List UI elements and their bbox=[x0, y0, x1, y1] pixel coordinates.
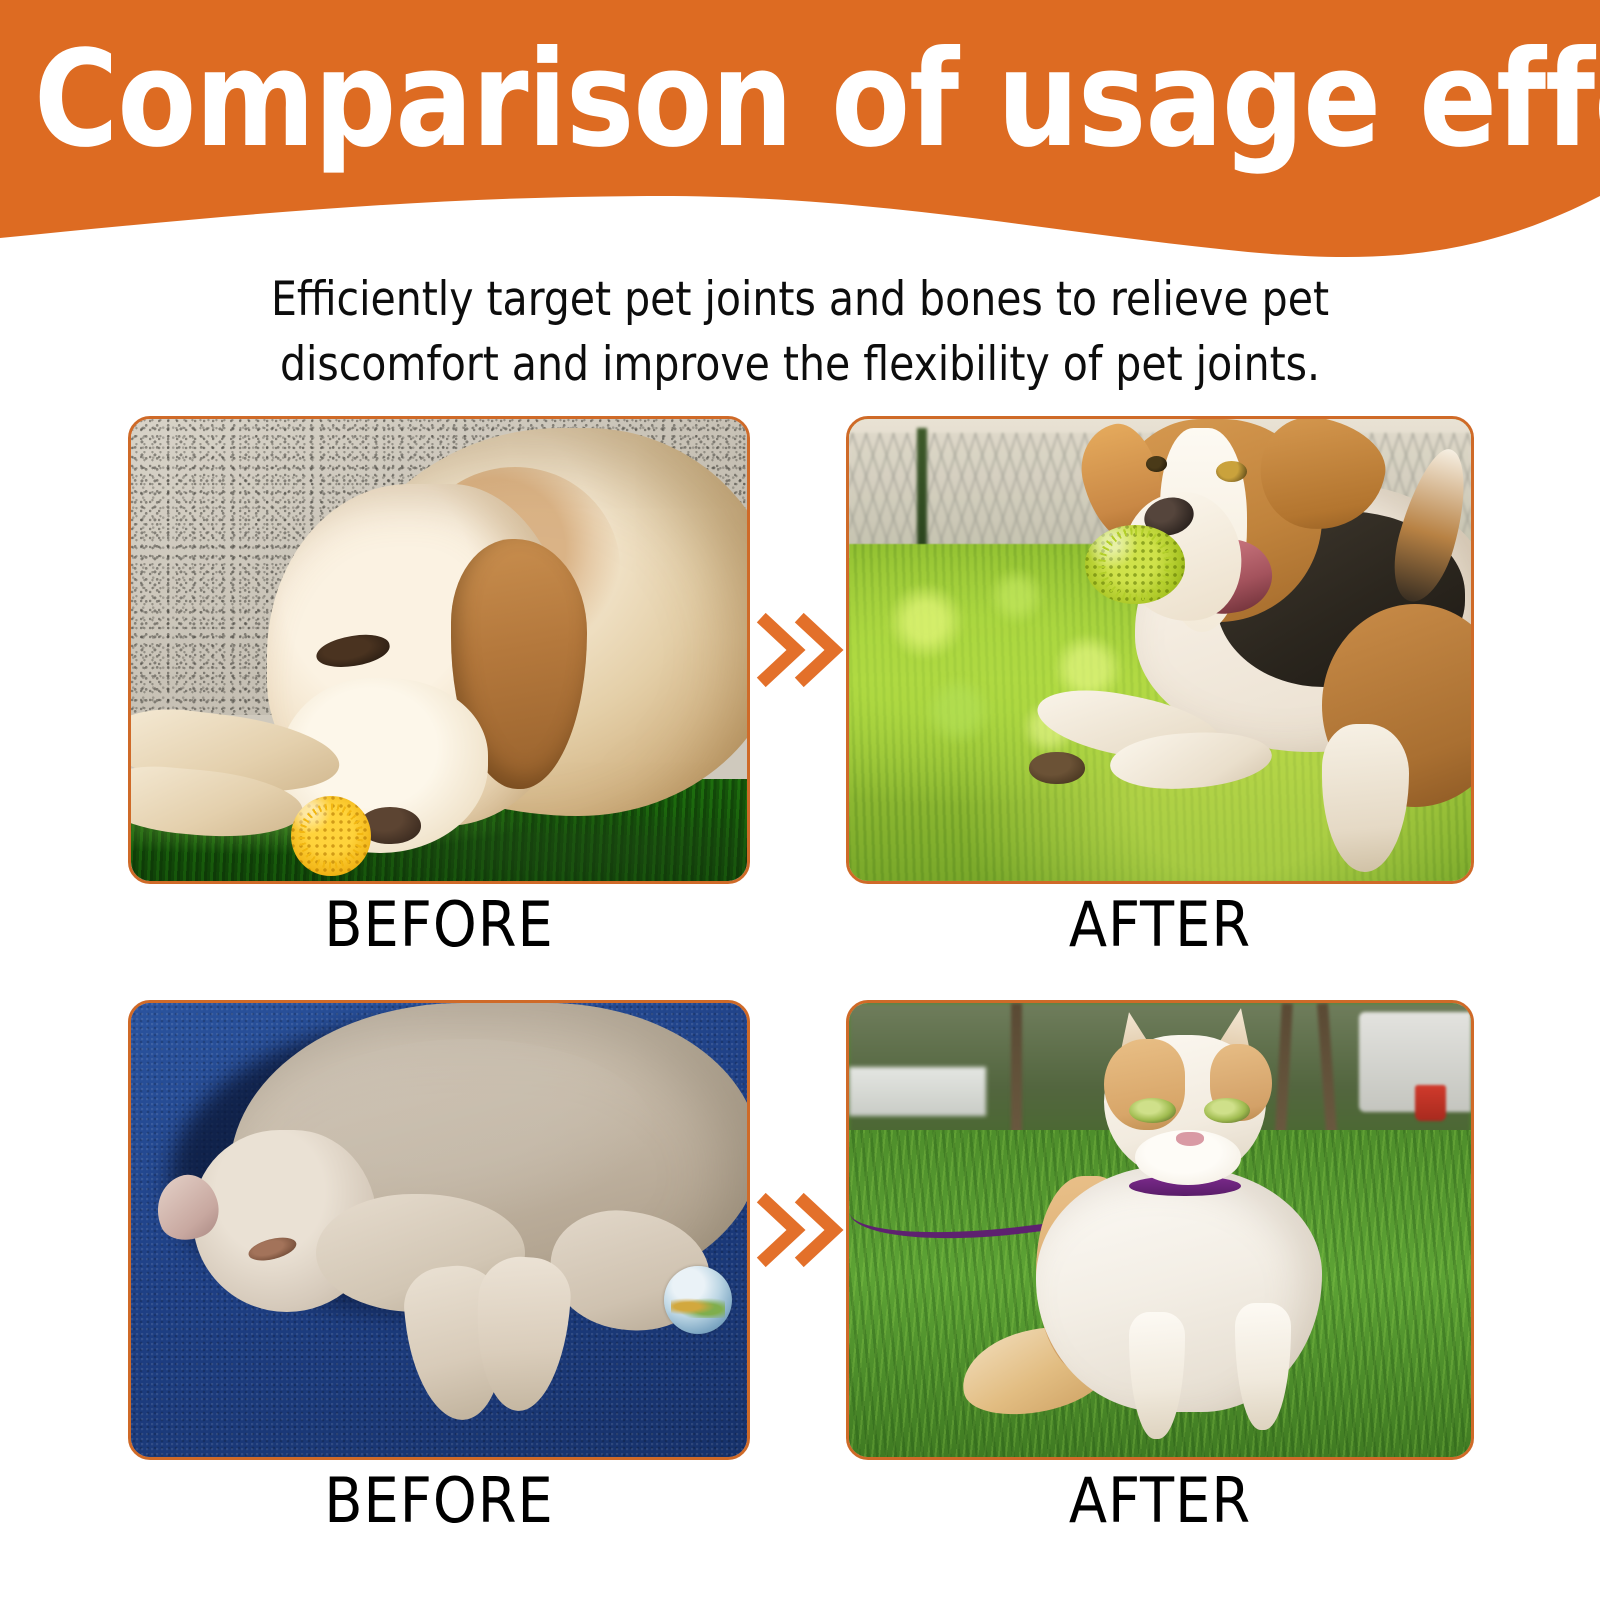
panel-before-dog[interactable] bbox=[128, 416, 750, 884]
beagle-paw bbox=[1029, 752, 1085, 784]
panel-after-dog[interactable] bbox=[846, 416, 1474, 884]
yellow-spiky-ball-toy bbox=[291, 796, 371, 877]
green-spiky-ball-toy bbox=[1085, 525, 1185, 604]
tree-trunk-1 bbox=[1011, 1003, 1022, 1148]
arrow-separator-row-2 bbox=[752, 1182, 848, 1278]
double-chevron-right-icon bbox=[752, 1182, 848, 1278]
label-before-dog: BEFORE bbox=[128, 894, 750, 956]
white-fence bbox=[849, 1067, 986, 1117]
photo-dog-after bbox=[849, 419, 1471, 881]
subtitle-line-1: Efficiently target pet joints and bones … bbox=[160, 268, 1440, 333]
header-banner: Comparison of usage effects bbox=[0, 0, 1600, 270]
subtitle-line-2: discomfort and improve the flexibility o… bbox=[160, 333, 1440, 398]
photo-cat-before bbox=[131, 1003, 747, 1457]
red-flower-pot bbox=[1415, 1085, 1446, 1121]
beagle-eye-right bbox=[1216, 461, 1247, 482]
beagle-eye-left bbox=[1146, 456, 1167, 472]
subtitle-text: Efficiently target pet joints and bones … bbox=[160, 268, 1440, 398]
label-after-cat: AFTER bbox=[846, 1470, 1474, 1532]
double-chevron-right-icon bbox=[752, 602, 848, 698]
round-sticker bbox=[664, 1266, 732, 1334]
photo-cat-after bbox=[849, 1003, 1471, 1457]
arrow-separator-row-1 bbox=[752, 602, 848, 698]
page-title: Comparison of usage effects bbox=[34, 34, 1512, 167]
photo-dog-before bbox=[131, 419, 747, 881]
panel-before-cat[interactable] bbox=[128, 1000, 750, 1460]
cat-nose bbox=[1176, 1132, 1204, 1146]
label-before-cat: BEFORE bbox=[128, 1470, 750, 1532]
cat-eye-left bbox=[1129, 1098, 1176, 1123]
panel-after-cat[interactable] bbox=[846, 1000, 1474, 1460]
label-after-dog: AFTER bbox=[846, 894, 1474, 956]
